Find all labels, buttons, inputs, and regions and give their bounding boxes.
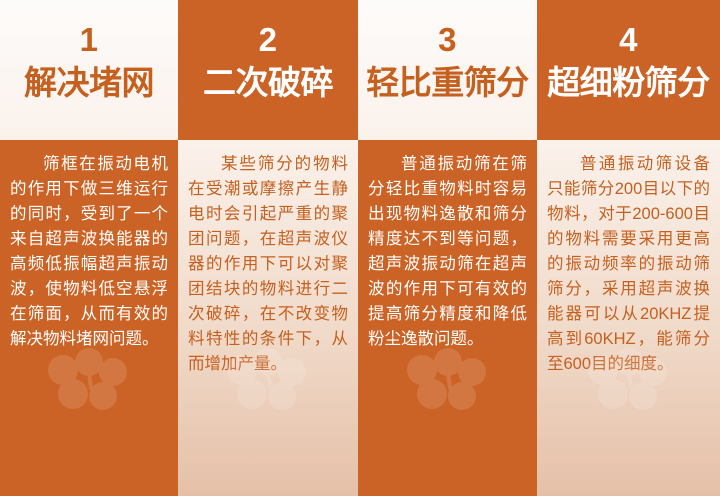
column-1-header: 1 解决堵网	[0, 0, 178, 140]
column-4-title: 超细粉筛分	[547, 62, 710, 104]
column-2-body: 某些筛分的物料在受潮或摩擦产生静电时会引起严重的聚团问题，在超声波仪器的作用下可…	[178, 140, 358, 496]
column-3-number: 3	[438, 20, 457, 60]
column-3-title: 轻比重筛分	[366, 62, 529, 104]
column-2-number: 2	[259, 20, 278, 60]
flower-watermark-icon	[29, 340, 149, 430]
column-1-body: 筛框在振动电机的作用下做三维运行的同时，受到了一个来自超声波换能器的高频低振幅超…	[0, 140, 178, 496]
feature-column-3: 3 轻比重筛分 普通振动筛在筛分轻比重物料时容易出现物料逸散和筛分精度达不到等问…	[358, 0, 537, 496]
feature-column-4: 4 超细粉筛分 普通振动筛设备只能筛分200目以下的物料，对于200-600目的…	[537, 0, 720, 496]
column-3-body-text: 普通振动筛在筛分轻比重物料时容易出现物料逸散和筛分精度达不到等问题，超声波振动筛…	[368, 152, 527, 352]
column-2-header: 2 二次破碎	[178, 0, 358, 140]
column-1-title: 解决堵网	[24, 62, 154, 104]
column-4-body: 普通振动筛设备只能筛分200目以下的物料，对于200-600目的物料需要采用更高…	[537, 140, 720, 496]
column-1-body-text: 筛框在振动电机的作用下做三维运行的同时，受到了一个来自超声波换能器的高频低振幅超…	[10, 152, 168, 352]
column-3-body: 普通振动筛在筛分轻比重物料时容易出现物料逸散和筛分精度达不到等问题，超声波振动筛…	[358, 140, 537, 496]
column-2-body-text: 某些筛分的物料在受潮或摩擦产生静电时会引起严重的聚团问题，在超声波仪器的作用下可…	[188, 152, 348, 377]
column-1-number: 1	[80, 20, 99, 60]
column-4-number: 4	[619, 20, 638, 60]
column-3-header: 3 轻比重筛分	[358, 0, 537, 140]
feature-column-1: 1 解决堵网 筛框在振动电机的作用下做三维运行的同时，受到了一个来自超声波换能器…	[0, 0, 178, 496]
feature-column-2: 2 二次破碎 某些筛分的物料在受潮或摩擦产生静电时会引起严重的聚团问题，在超声波…	[178, 0, 358, 496]
infographic-board: 1 解决堵网 筛框在振动电机的作用下做三维运行的同时，受到了一个来自超声波换能器…	[0, 0, 720, 496]
column-4-body-text: 普通振动筛设备只能筛分200目以下的物料，对于200-600目的物料需要采用更高…	[547, 152, 710, 377]
column-2-title: 二次破碎	[203, 62, 333, 104]
flower-watermark-icon	[388, 340, 508, 430]
column-4-header: 4 超细粉筛分	[537, 0, 720, 140]
